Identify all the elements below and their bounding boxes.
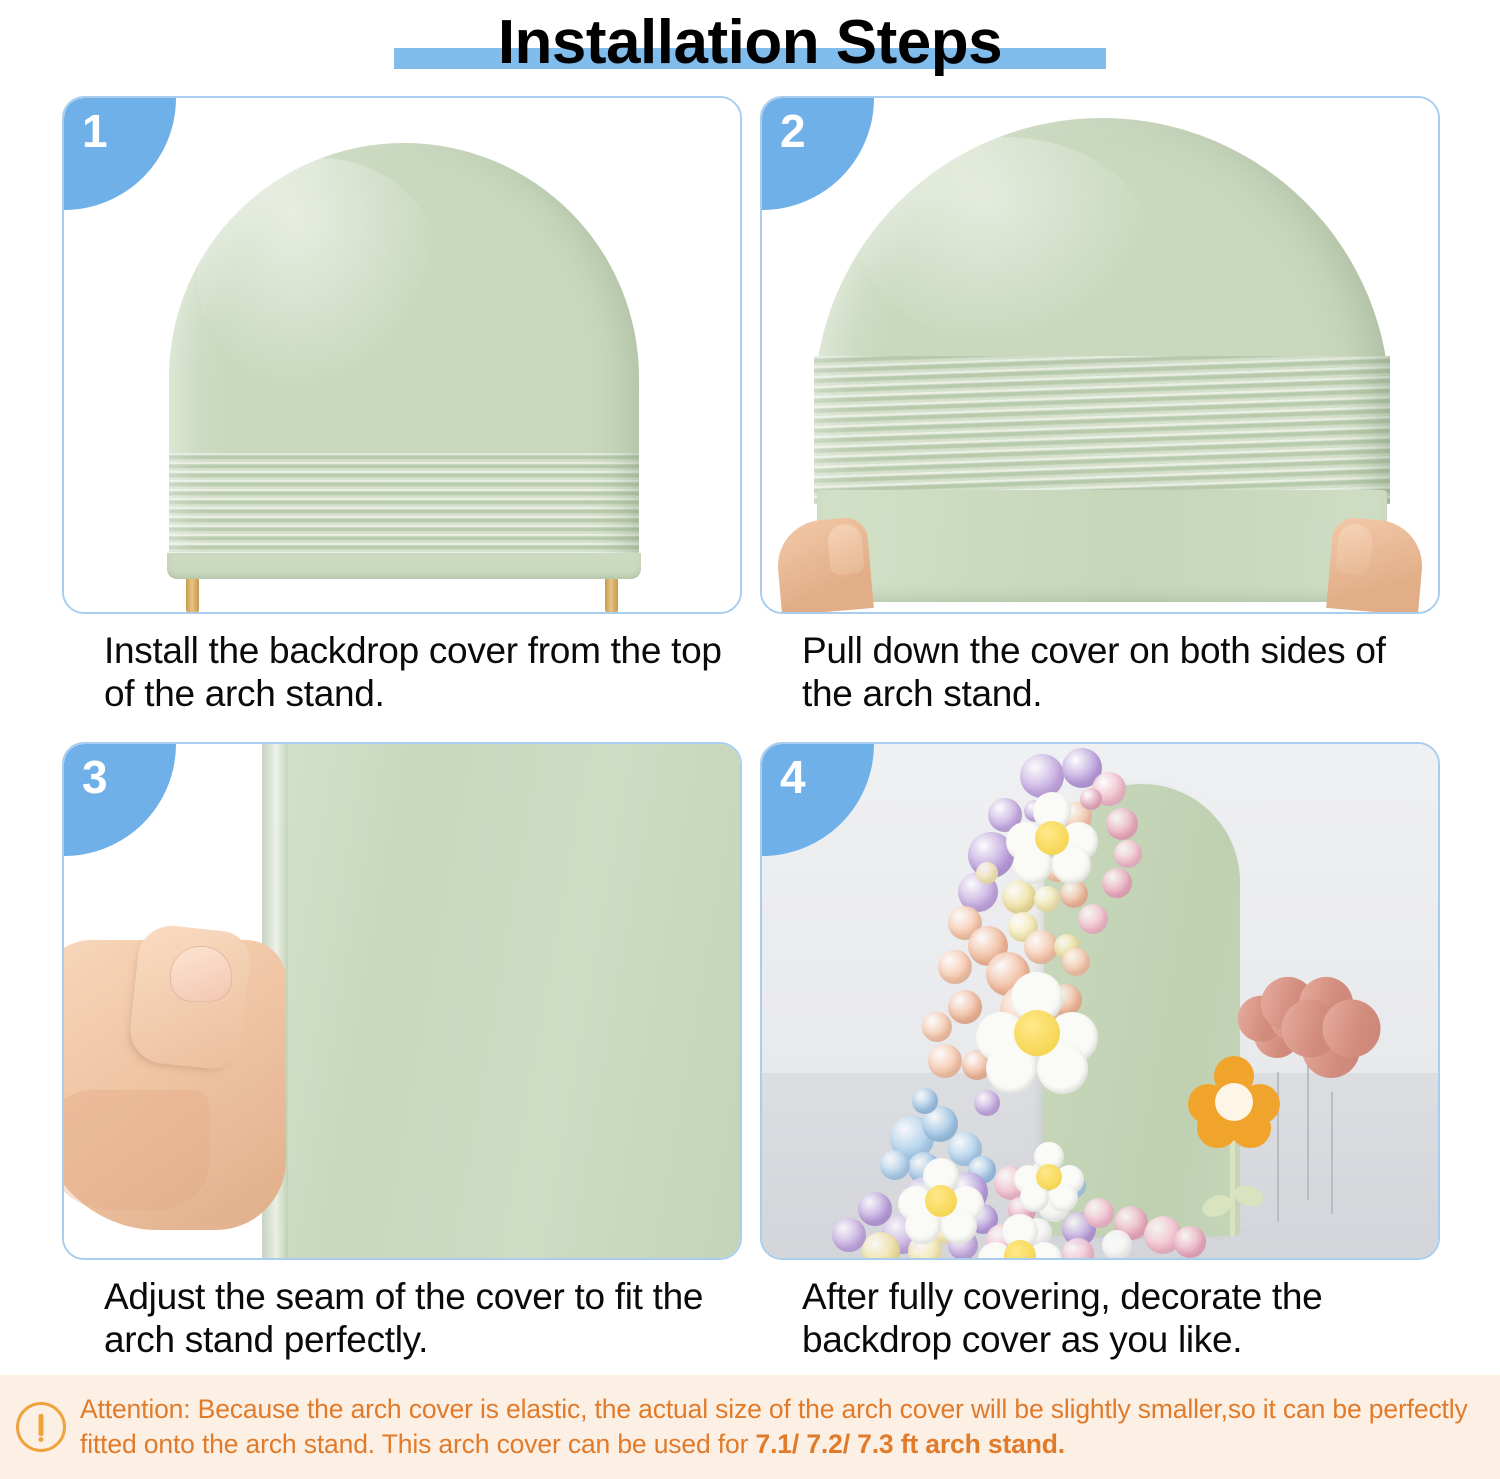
daisy-flower-balloon <box>898 1158 984 1244</box>
balloon <box>1034 886 1060 912</box>
page-header: Installation Steps <box>0 0 1500 92</box>
balloon <box>912 1088 938 1114</box>
arch-cover-hem <box>167 553 641 579</box>
step-number-2: 2 <box>780 108 806 154</box>
thumb-right <box>1335 523 1373 576</box>
daisy-flower-balloon <box>1014 1142 1084 1212</box>
step-3-caption: Adjust the seam of the cover to fit the … <box>62 1260 742 1362</box>
step-card-2: 2 Pull down the cover on both sides of t… <box>760 96 1440 742</box>
step-4-caption: After fully covering, decorate the backd… <box>760 1260 1440 1362</box>
arch-cover-fabric <box>262 744 742 1260</box>
hand-right <box>1326 516 1426 614</box>
attention-bar: Attention: Because the arch cover is ela… <box>0 1375 1500 1479</box>
seam-adjust-illustration <box>64 744 740 1258</box>
balloon <box>1174 1226 1206 1258</box>
step-number-1: 1 <box>82 108 108 154</box>
step-2-photo: 2 <box>760 96 1440 614</box>
balloon <box>1002 880 1036 914</box>
balloon <box>938 950 972 984</box>
step-number-3: 3 <box>82 754 108 800</box>
step-card-3: 3 Adjust the seam of the cover to fit th… <box>62 742 742 1388</box>
balloon <box>922 1012 952 1042</box>
pull-down-illustration <box>762 98 1438 612</box>
fingernail <box>170 946 232 1002</box>
orange-flower-decoration <box>1188 1056 1280 1148</box>
page-title: Installation Steps <box>498 12 1002 80</box>
arch-stand-illustration <box>64 98 740 612</box>
attention-text: Attention: Because the arch cover is ela… <box>80 1392 1482 1463</box>
steps-grid: 1 Install the backdrop cover from the to… <box>62 96 1440 1388</box>
step-1-photo: 1 <box>62 96 742 614</box>
balloon <box>1060 880 1088 908</box>
step-1-caption: Install the backdrop cover from the top … <box>62 614 742 716</box>
balloon <box>1102 1230 1132 1258</box>
balloon <box>1102 868 1132 898</box>
balloon <box>1024 930 1058 964</box>
balloon <box>1106 808 1138 840</box>
daisy-flower-balloon <box>978 1214 1062 1258</box>
arch-cover-ruching <box>814 356 1390 504</box>
step-number-4: 4 <box>780 754 806 800</box>
knuckles <box>62 1090 210 1210</box>
attention-text-bold: 7.1/ 7.2/ 7.3 ft arch stand. <box>756 1429 1066 1459</box>
decorated-arch-scene <box>762 744 1438 1258</box>
balloon <box>928 1044 962 1078</box>
daisy-center <box>1014 1010 1060 1056</box>
hand-left <box>774 516 874 614</box>
thumb-left <box>826 523 864 576</box>
balloon <box>976 862 998 884</box>
step-card-1: 1 Install the backdrop cover from the to… <box>62 96 742 742</box>
step-3-photo: 3 <box>62 742 742 1260</box>
step-2-caption: Pull down the cover on both sides of the… <box>760 614 1440 716</box>
step-card-4: 4 After fully covering, decorate the bac… <box>760 742 1440 1388</box>
balloon-string <box>1331 1092 1333 1214</box>
step-4-photo: 4 <box>760 742 1440 1260</box>
balloon <box>1078 904 1108 934</box>
daisy-flower-balloon <box>976 972 1098 1094</box>
balloon <box>1084 1198 1114 1228</box>
balloon <box>1114 840 1142 868</box>
balloon <box>832 1218 866 1252</box>
warning-exclamation-icon <box>16 1402 66 1452</box>
daisy-flower-balloon <box>1006 792 1098 884</box>
hand-pinching-seam <box>62 940 286 1230</box>
balloon-string <box>1307 1064 1309 1200</box>
arch-cover-skirt <box>817 490 1387 602</box>
